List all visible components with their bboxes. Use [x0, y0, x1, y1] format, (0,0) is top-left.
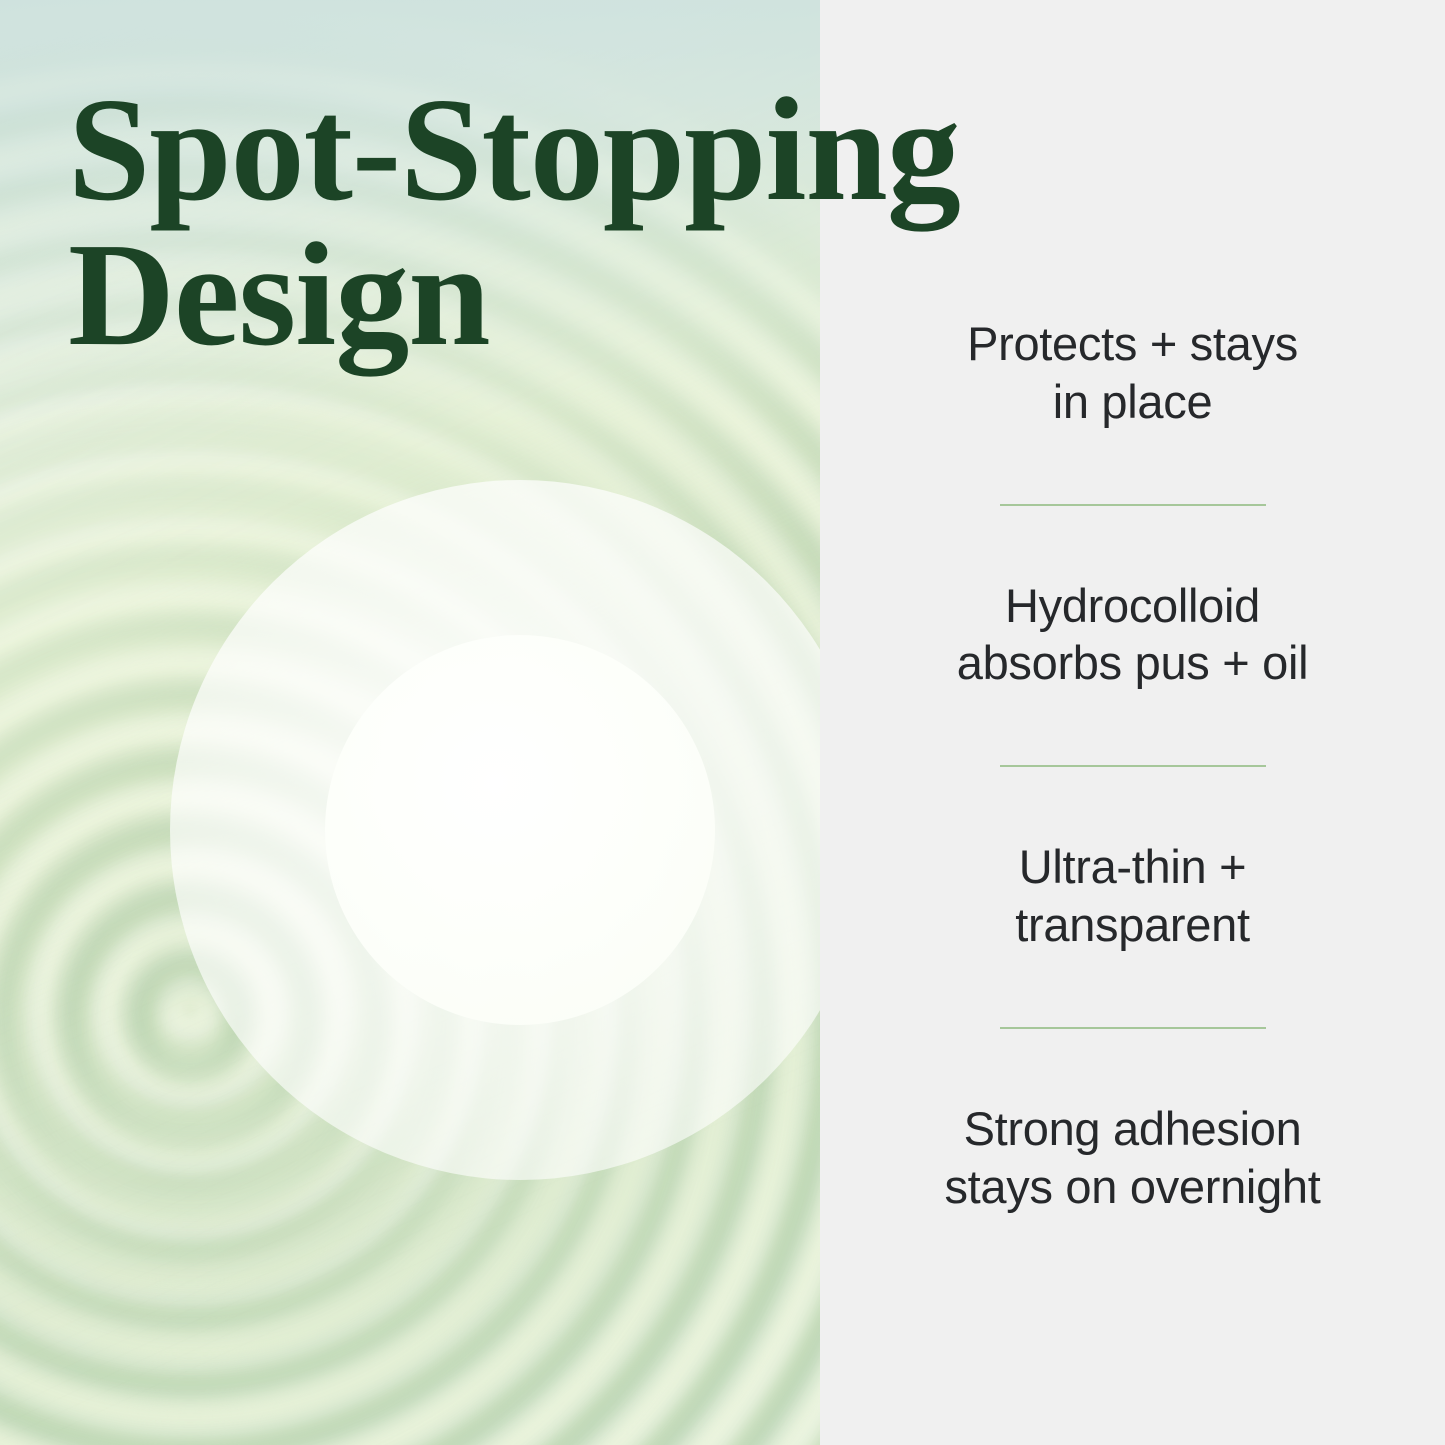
feature-item-adhesion: Strong adhesion stays on overnight — [898, 1100, 1368, 1216]
hydrocolloid-patch-core — [325, 635, 715, 1025]
feature-divider-3 — [1000, 1027, 1266, 1029]
product-feature-graphic: Protects + stays in place Hydrocolloid a… — [0, 0, 1445, 1445]
page-title: Spot-Stopping Design — [68, 78, 960, 368]
feature-item-ultra-thin: Ultra-thin + transparent — [898, 838, 1368, 954]
feature-divider-2 — [1000, 765, 1266, 767]
feature-divider-1 — [1000, 504, 1266, 506]
feature-item-protects: Protects + stays in place — [898, 315, 1368, 431]
feature-list: Protects + stays in place Hydrocolloid a… — [820, 315, 1445, 1215]
feature-item-hydrocolloid: Hydrocolloid absorbs pus + oil — [898, 577, 1368, 693]
